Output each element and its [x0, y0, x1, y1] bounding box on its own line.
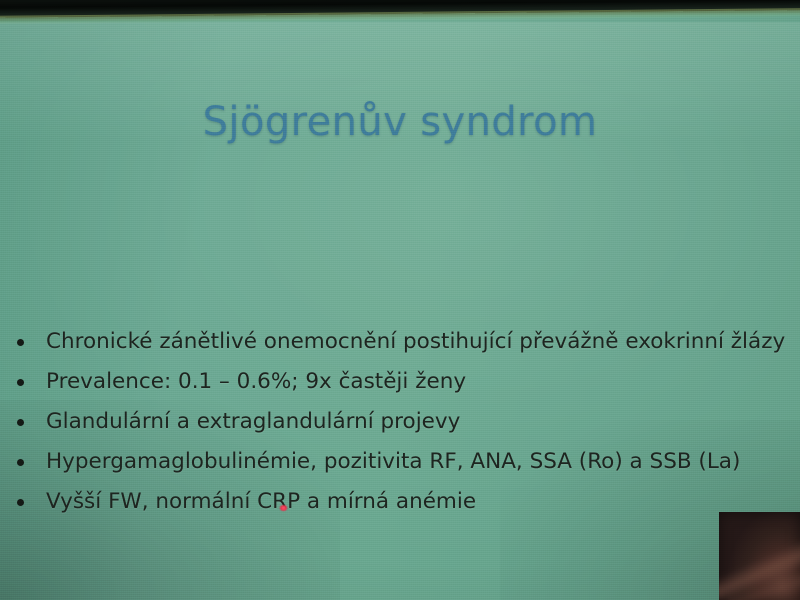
bullet-text: Hypergamaglobulinémie, pozitivita RF, AN…: [46, 442, 740, 482]
bullet-dot-icon: [17, 419, 24, 426]
list-item: Glandulární a extraglandulární projevy: [0, 402, 800, 442]
bullet-text: Vyšší FW, normální CRP a mírná anémie: [46, 482, 476, 522]
bullet-text: Prevalence: 0.1 – 0.6%; 9x častěji ženy: [46, 362, 466, 402]
bullet-text: Chronické zánětlivé onemocnění postihují…: [46, 322, 785, 362]
list-item: Chronické zánětlivé onemocnění postihují…: [0, 322, 800, 362]
bullet-dot-icon: [17, 499, 24, 506]
bullet-dot-icon: [17, 459, 24, 466]
projected-slide-photo: Sjögrenův syndrom Chronické zánětlivé on…: [0, 0, 800, 600]
clinical-photo-thumbnail: [719, 512, 800, 600]
bullet-dot-icon: [17, 339, 24, 346]
list-item: Vyšší FW, normální CRP a mírná anémie: [0, 482, 800, 522]
slide-bullet-list: Chronické zánětlivé onemocnění postihují…: [0, 322, 800, 522]
list-item: Hypergamaglobulinémie, pozitivita RF, AN…: [0, 442, 800, 482]
slide-title: Sjögrenův syndrom: [0, 99, 800, 145]
bullet-text: Glandulární a extraglandulární projevy: [46, 402, 460, 442]
list-item: Prevalence: 0.1 – 0.6%; 9x častěji ženy: [0, 362, 800, 402]
bullet-dot-icon: [17, 379, 24, 386]
